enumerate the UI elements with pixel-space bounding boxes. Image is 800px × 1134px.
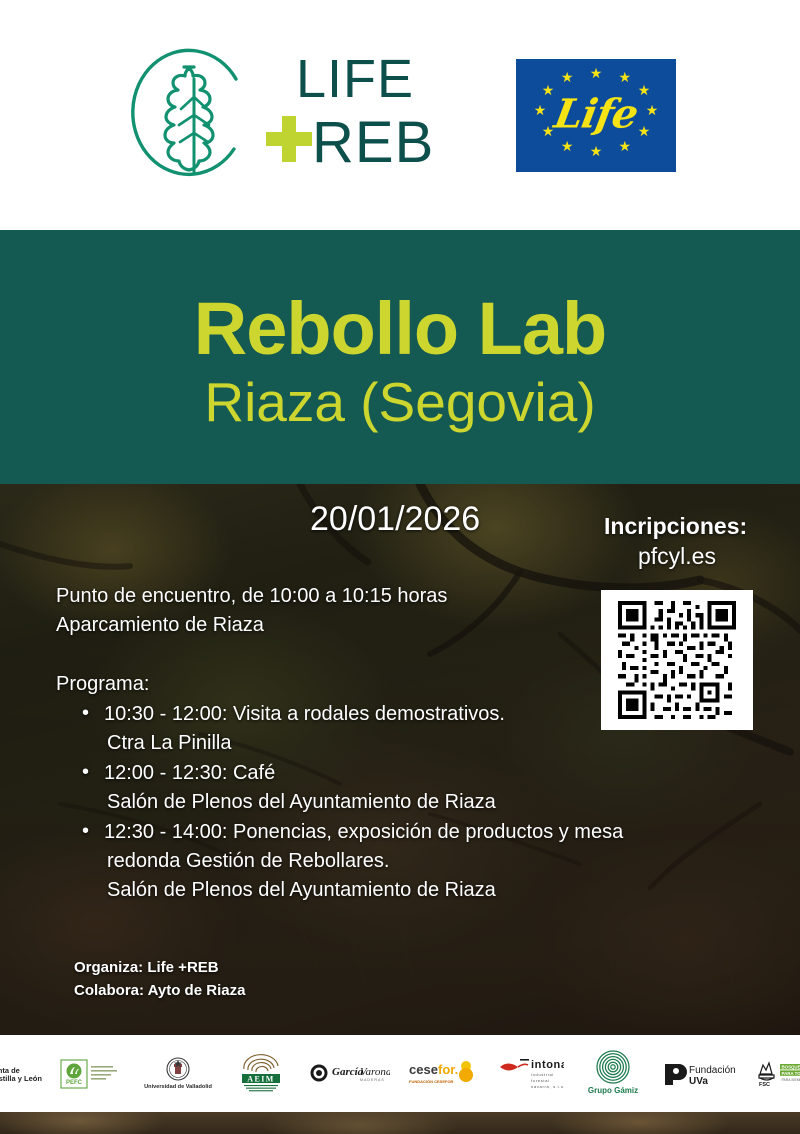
organiza-text: Organiza: Life +REB xyxy=(74,957,245,980)
svg-text:FSC: FSC xyxy=(759,1082,770,1088)
sponsor-logo-fsc: FSC BOSQUES PARA TODOS PARA SIEMPRE xyxy=(754,1047,800,1101)
meeting-point-line-1: Punto de encuentro, de 10:00 a 10:15 hor… xyxy=(56,582,447,611)
sponsor-logo-cesefor: cese for. FUNDACIÓN CESEFOR xyxy=(408,1047,480,1101)
poster: LIFE REB ★ ★ ★ ★ ★ ★ ★ ★ ★ ★ ★ ★ Life Re… xyxy=(0,0,800,1134)
program-list: 10:30 - 12:00: Visita a rodales demostra… xyxy=(56,700,772,906)
svg-text:intona: intona xyxy=(531,1059,564,1071)
svg-text:Varona: Varona xyxy=(360,1066,390,1078)
svg-text:García: García xyxy=(332,1066,364,1078)
list-item: 10:30 - 12:00: Visita a rodales demostra… xyxy=(82,700,772,758)
svg-text:forestal: forestal xyxy=(531,1078,550,1083)
svg-text:industrial: industrial xyxy=(531,1072,554,1077)
program-item-main-2: redonda Gestión de Rebollares. xyxy=(104,847,772,876)
credits-block: Organiza: Life +REB Colabora: Ayto de Ri… xyxy=(74,957,245,1002)
meeting-point-line-2: Aparcamiento de Riaza xyxy=(56,611,447,640)
sponsor-logo-pefc: PEFC xyxy=(60,1047,124,1101)
svg-text:navarra, s.l.u.: navarra, s.l.u. xyxy=(531,1084,564,1089)
svg-text:BOSQUES: BOSQUES xyxy=(782,1064,800,1069)
program-item-sub: Salón de Plenos del Ayuntamiento de Riaz… xyxy=(104,876,772,905)
registration-url[interactable]: pfcyl.es xyxy=(638,543,716,570)
svg-text:Castilla y León: Castilla y León xyxy=(0,1074,42,1083)
program-heading: Programa: xyxy=(56,673,149,696)
sponsor-logo-junta-castilla-y-leon: Junta de Castilla y León xyxy=(0,1047,42,1101)
program-item-main: 12:00 - 12:30: Café xyxy=(104,762,275,784)
svg-text:PARA SIEMPRE: PARA SIEMPRE xyxy=(782,1078,800,1082)
svg-text:cese: cese xyxy=(409,1062,438,1077)
bottom-photo-layer xyxy=(0,1112,800,1134)
svg-text:UVa: UVa xyxy=(689,1076,708,1087)
sponsor-logo-universidad-de-valladolid: Universidad de Valladolid xyxy=(142,1047,214,1101)
sponsor-logo-grupo-gamiz: Grupo Gámiz xyxy=(582,1047,644,1101)
svg-text:AEIM: AEIM xyxy=(247,1074,274,1083)
program-item-main: 10:30 - 12:00: Visita a rodales demostra… xyxy=(104,703,505,725)
program-item-main: 12:30 - 14:00: Ponencias, exposición de … xyxy=(104,821,623,843)
sponsor-logo-garcia-varona: García Varona MADERAS xyxy=(308,1047,390,1101)
registration-label: Incripciones: xyxy=(604,513,747,540)
svg-text:Grupo Gámiz: Grupo Gámiz xyxy=(588,1086,638,1095)
list-item: 12:30 - 14:00: Ponencias, exposición de … xyxy=(82,818,772,905)
program-item-sub: Salón de Plenos del Ayuntamiento de Riaz… xyxy=(104,788,772,817)
svg-text:Fundación: Fundación xyxy=(689,1065,736,1076)
sponsor-logo-intona: intona industrial forestal navarra, s.l.… xyxy=(498,1047,564,1101)
list-item: 12:00 - 12:30: Café Salón de Plenos del … xyxy=(82,759,772,817)
meeting-point-block: Punto de encuentro, de 10:00 a 10:15 hor… xyxy=(56,582,447,640)
sponsor-logo-fundacion-uva: Fundación UVa xyxy=(662,1047,736,1101)
poster-body-content: 20/01/2026 Incripciones: pfcyl.es xyxy=(0,0,800,1134)
sponsor-logo-aeim: AEIM xyxy=(232,1047,290,1101)
bottom-photo-sliver xyxy=(0,1112,800,1134)
colabora-text: Colabora: Ayto de Riaza xyxy=(74,980,245,1003)
svg-text:FUNDACIÓN CESEFOR: FUNDACIÓN CESEFOR xyxy=(409,1079,454,1084)
svg-text:PARA TODOS: PARA TODOS xyxy=(782,1070,800,1075)
event-date: 20/01/2026 xyxy=(310,500,480,539)
svg-text:MADERAS: MADERAS xyxy=(360,1078,385,1082)
svg-text:PEFC: PEFC xyxy=(66,1080,83,1086)
svg-text:for.: for. xyxy=(438,1062,458,1077)
sponsor-logo-strip: Junta de Castilla y León PEFC xyxy=(0,1035,800,1112)
svg-text:Universidad de Valladolid: Universidad de Valladolid xyxy=(144,1084,212,1090)
program-item-sub: Ctra La Pinilla xyxy=(104,729,772,758)
